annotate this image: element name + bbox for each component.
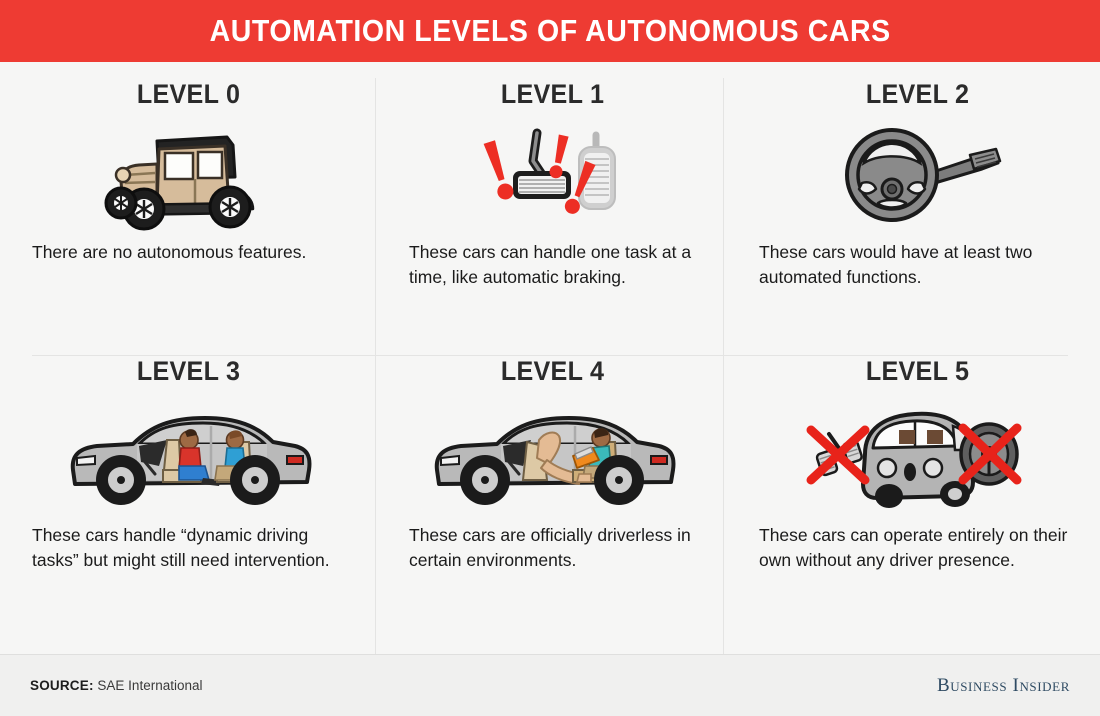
vintage-car-icon: [32, 116, 345, 234]
level-caption-1: These cars can handle one task at a time…: [409, 240, 697, 290]
footer-bar: SOURCE: SAE International Business Insid…: [0, 654, 1100, 716]
infographic-root: AUTOMATION LEVELS OF AUTONOMOUS CARS LEV…: [0, 0, 1100, 716]
levels-grid: LEVEL 0: [0, 62, 1100, 654]
level-cell-4: LEVEL 4: [375, 339, 723, 654]
level-cell-2: LEVEL 2: [723, 62, 1100, 339]
level-title-0: LEVEL 0: [137, 80, 240, 110]
source-label: SOURCE:: [30, 678, 94, 693]
steering-wheel-stalk-icon: [759, 116, 1076, 234]
level-caption-2: These cars would have at least two autom…: [759, 240, 1076, 290]
level-title-1: LEVEL 1: [501, 80, 604, 110]
level-caption-0: There are no autonomous features.: [32, 240, 345, 265]
level-cell-0: LEVEL 0: [0, 62, 375, 339]
level-title-3: LEVEL 3: [137, 357, 240, 387]
level-caption-4: These cars are officially driverless in …: [409, 523, 697, 573]
level-title-4: LEVEL 4: [501, 357, 604, 387]
pod-car-no-controls-icon: [759, 393, 1076, 517]
source-credit: SOURCE: SAE International: [30, 678, 203, 693]
sedan-driver-attentive-icon: [32, 393, 345, 517]
header-banner: AUTOMATION LEVELS OF AUTONOMOUS CARS: [0, 0, 1100, 62]
brake-pedals-alert-icon: [409, 116, 697, 234]
page-title: AUTOMATION LEVELS OF AUTONOMOUS CARS: [209, 13, 890, 49]
level-caption-5: These cars can operate entirely on their…: [759, 523, 1076, 573]
level-cell-1: LEVEL 1: [375, 62, 723, 339]
source-value: SAE International: [97, 678, 202, 693]
level-caption-3: These cars handle “dynamic driving tasks…: [32, 523, 345, 573]
level-title-5: LEVEL 5: [866, 357, 969, 387]
business-insider-logo: Business Insider: [937, 675, 1070, 697]
sedan-passenger-relaxed-icon: [409, 393, 697, 517]
level-title-2: LEVEL 2: [866, 80, 969, 110]
level-cell-3: LEVEL 3: [0, 339, 375, 654]
level-cell-5: LEVEL 5: [723, 339, 1100, 654]
